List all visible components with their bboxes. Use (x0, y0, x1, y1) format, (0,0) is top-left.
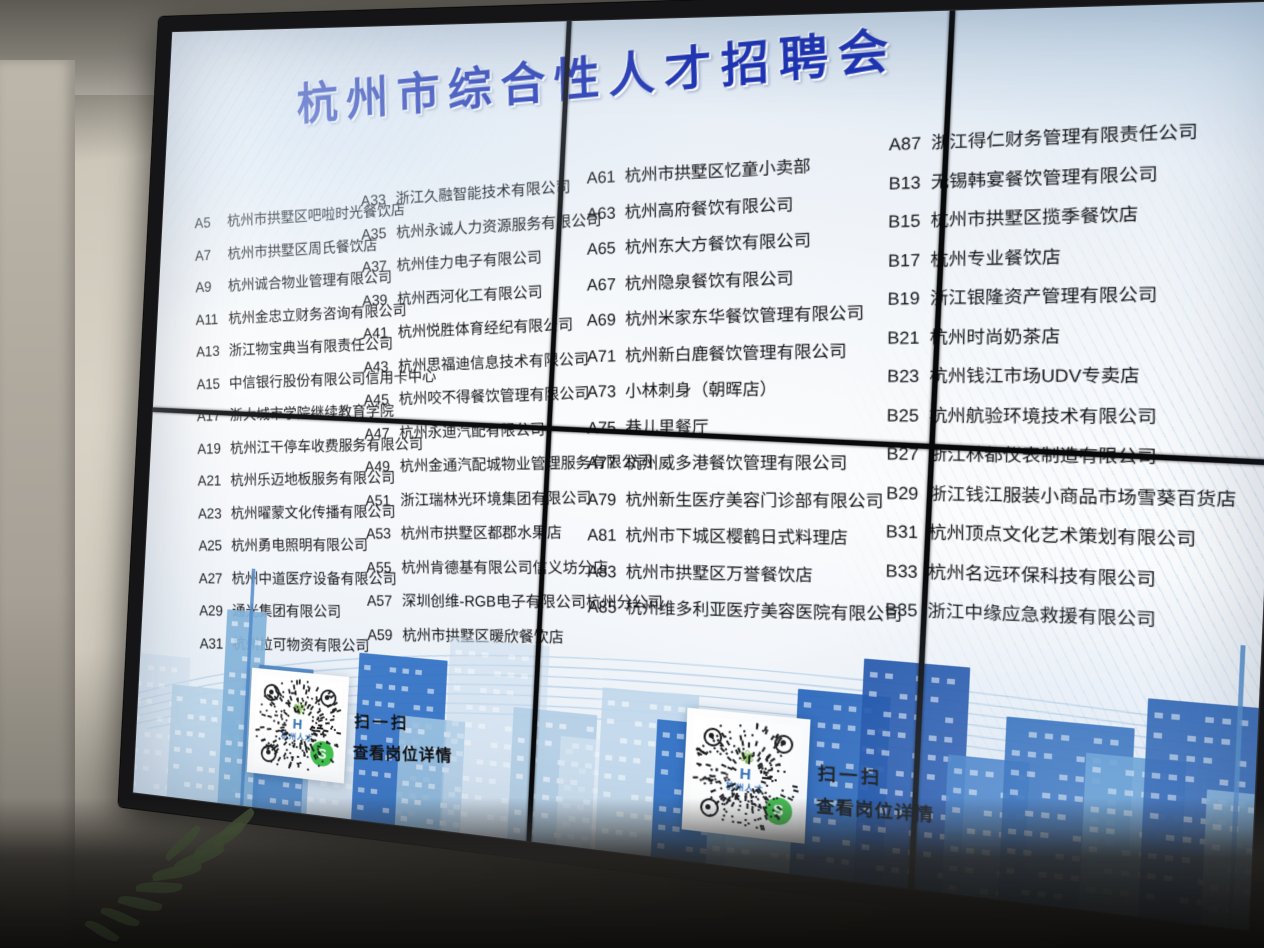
building-window (1187, 736, 1196, 742)
qr-module (732, 767, 737, 772)
exhibitor-name: 杭州佳力电子有限公司 (393, 249, 542, 274)
building-window (153, 784, 159, 789)
building-window (156, 733, 162, 738)
qr-module (285, 748, 288, 751)
building-window (476, 759, 483, 765)
building-window (295, 784, 301, 790)
qr-module (769, 763, 772, 766)
building-window (320, 781, 326, 787)
building-window (212, 700, 218, 705)
building-window (663, 724, 670, 730)
qr-module (762, 729, 765, 732)
exhibitor-code: A53 (366, 527, 397, 542)
building-window (455, 667, 462, 673)
qr-module (781, 789, 784, 792)
exhibitor-code: A55 (366, 560, 397, 575)
building-window (522, 656, 529, 662)
building-window (1076, 756, 1084, 762)
building-window (579, 768, 586, 774)
building-window (198, 732, 204, 737)
exhibitor-code: A61 (587, 169, 620, 187)
qr-module (724, 734, 727, 737)
building-window (508, 672, 515, 678)
qr-module (766, 784, 769, 787)
exhibitor-code: A7 (195, 247, 224, 263)
qr-module (727, 778, 730, 781)
building-window (834, 705, 842, 711)
qr-module (757, 752, 761, 757)
qr-module (792, 785, 797, 789)
exhibitor-name: 杭州维多利亚医疗美容医院有限公司 (621, 599, 902, 625)
building-window (255, 640, 261, 645)
exhibitor-row: B35 浙江中缘应急救援有限公司 (885, 601, 1236, 633)
building-window (1044, 753, 1052, 759)
building-window (469, 651, 476, 657)
qr-module (726, 741, 731, 746)
qr-module (710, 768, 713, 771)
building-window (1027, 771, 1035, 777)
qr-module (301, 705, 303, 708)
building-window (1094, 738, 1102, 744)
building-window (209, 768, 215, 773)
building-window (429, 766, 436, 772)
building-window (911, 772, 919, 778)
building-window (676, 744, 683, 750)
building-window (226, 740, 232, 745)
qr-module (260, 726, 264, 728)
qr-module (756, 723, 759, 726)
qr-module (311, 697, 314, 700)
building-window (1205, 717, 1214, 723)
qr-finder-dot (266, 750, 271, 755)
building-window (833, 724, 841, 730)
building-window (646, 778, 653, 784)
qr-module (722, 764, 727, 768)
qr-module (299, 680, 301, 684)
building-window (228, 689, 234, 694)
qr-module (739, 736, 742, 741)
qr-module (716, 780, 721, 783)
exhibitor-row: B25 杭州航验环境技术有限公司 (887, 407, 1237, 427)
exhibitor-code: A63 (587, 204, 620, 222)
exhibitor-row: B31 杭州顶点文化艺术策划有限公司 (886, 523, 1237, 550)
building-window (869, 691, 877, 697)
building-window (146, 699, 152, 704)
building-window (715, 789, 722, 795)
qr-module (733, 758, 738, 763)
qr-module (308, 703, 311, 706)
qr-module (748, 759, 751, 764)
building-window (718, 775, 725, 781)
building-window (543, 777, 550, 783)
building-window (1061, 735, 1069, 741)
qr-module (715, 734, 718, 737)
building-window (881, 750, 889, 756)
building-window (333, 782, 340, 788)
qr-module (743, 757, 746, 760)
building-window (468, 669, 475, 675)
exhibitor-code: A13 (196, 344, 225, 360)
building-window (578, 787, 585, 793)
qr-module (719, 786, 722, 789)
qr-module (728, 766, 733, 770)
building-window (848, 725, 856, 731)
building-window (816, 760, 824, 766)
qr-module (733, 744, 736, 747)
building-window (174, 747, 180, 752)
exhibitor-name: 杭州航验环境技术有限公司 (924, 406, 1157, 427)
qr-module (303, 685, 306, 690)
exhibitor-code: B23 (887, 368, 924, 386)
building-window (944, 737, 952, 743)
exhibitor-code: A77 (587, 455, 621, 472)
qr-module (757, 788, 762, 793)
qr-module (698, 764, 701, 767)
exhibitor-name: 杭州市拱墅区都郡水果店 (397, 525, 562, 543)
qr-module (754, 790, 757, 793)
building-window (620, 738, 627, 744)
building-window (1238, 761, 1247, 768)
building-window (899, 713, 907, 719)
exhibitor-name: 杭州新生医疗美容门诊部有限公司 (621, 491, 884, 511)
building-window (507, 690, 514, 696)
decor-hairlines-right (804, 46, 1264, 866)
building-window (790, 760, 798, 766)
exhibitor-code: A49 (365, 460, 396, 476)
building-window (159, 683, 165, 688)
building-window (418, 729, 425, 735)
building-window (1109, 759, 1118, 765)
building-window (389, 685, 396, 691)
building-window (503, 762, 510, 768)
qr-module (781, 742, 786, 747)
building-window (986, 771, 994, 777)
building-window (676, 752, 683, 758)
qr-module (702, 744, 705, 747)
qr-module (766, 777, 771, 780)
qr-letter: H (715, 763, 776, 785)
building-window (910, 792, 918, 798)
qr-module (325, 722, 329, 725)
qr-module (694, 775, 699, 777)
building-window (866, 748, 874, 754)
qr-finder-dot (709, 733, 714, 739)
building-window (1185, 776, 1194, 782)
building-window (619, 756, 626, 762)
building-window (227, 706, 233, 711)
building-window (454, 685, 461, 691)
qr-module (710, 734, 715, 739)
building-window (877, 747, 885, 753)
qr-module (763, 771, 768, 774)
building-window (480, 688, 487, 694)
exhibitor-code: A45 (364, 393, 395, 409)
qr-module (760, 770, 763, 773)
qr-code-left[interactable]: ✾ H 杭州人才 S (247, 668, 349, 784)
screen-surface[interactable]: 杭州市综合性人才招聘会 A5 杭州市拱墅区吧啦时光餐饮店A7 杭州市拱墅区周氏餐… (133, 1, 1264, 930)
exhibitor-name: 杭州悦胜体育经纪有限公司 (394, 317, 574, 342)
qr-module (743, 730, 746, 733)
exhibitor-code: A9 (195, 280, 224, 296)
building-window (1186, 756, 1195, 762)
building-window (490, 761, 497, 767)
exhibitor-row: B19 浙江银隆资产管理有限公司 (888, 285, 1238, 308)
exhibitor-name: 杭州市拱墅区周氏餐饮店 (224, 237, 378, 262)
qr-module (697, 747, 700, 750)
qr-module (701, 750, 706, 754)
building-window (661, 769, 668, 775)
building-window (802, 740, 810, 746)
building-window (861, 765, 869, 771)
exhibitor-code: A41 (363, 326, 394, 342)
qr-module (756, 725, 759, 728)
building-window (1221, 739, 1230, 745)
qr-module (761, 776, 766, 779)
building-window (1204, 737, 1213, 743)
qr-module (318, 725, 322, 727)
building-window (232, 621, 238, 626)
building-window (157, 717, 163, 722)
exhibitor-code: A43 (363, 359, 394, 375)
qr-finder-dot (780, 740, 786, 746)
building-window (607, 718, 614, 724)
qr-module (766, 774, 769, 777)
qr-module (719, 724, 722, 727)
qr-module (728, 730, 731, 733)
building-window (587, 726, 594, 732)
qr-module (282, 690, 285, 693)
tree-icon: ✾ (716, 745, 778, 769)
qr-module (281, 682, 284, 685)
qr-module (714, 778, 717, 781)
building-window (465, 722, 472, 728)
exhibitor-code: A5 (195, 215, 224, 231)
qr-module (763, 770, 766, 773)
qr-module (760, 770, 763, 773)
building-window (817, 741, 825, 747)
building-window (359, 770, 366, 776)
qr-module (735, 749, 739, 754)
qr-module (775, 763, 780, 767)
building-window (1237, 781, 1246, 788)
building-window (928, 755, 936, 761)
exhibitor-name: 杭州高府餐饮有限公司 (620, 195, 793, 221)
qr-module (777, 769, 780, 772)
building-window (704, 755, 711, 761)
building-window (1010, 789, 1018, 795)
qr-module (256, 728, 260, 731)
building-window (953, 788, 961, 794)
qr-module (783, 771, 786, 774)
building-window (171, 667, 177, 672)
exhibitor-row: B33 杭州名远环保科技有限公司 (885, 562, 1236, 591)
exhibitor-code: A69 (587, 312, 621, 330)
qr-module (712, 738, 715, 742)
building-window (745, 774, 753, 780)
exhibitor-row: B23 杭州钱江市场UDV专卖店 (887, 367, 1237, 386)
building-window (664, 705, 671, 711)
exhibitor-row: A73 小林刺身（朝晖店） (587, 379, 901, 400)
qr-module (760, 780, 765, 784)
qr-logo-halo (720, 743, 772, 798)
building-window (184, 782, 190, 787)
building-window (634, 739, 641, 745)
qr-module (767, 777, 770, 780)
building-window (916, 676, 924, 682)
scan-hint-line1-left: 扫一扫 (354, 708, 409, 734)
building-window (229, 672, 235, 677)
building-window (144, 749, 150, 754)
building-window (885, 673, 893, 679)
exhibitor-row: B21 杭州时尚奶茶店 (887, 326, 1237, 347)
building-window (160, 666, 166, 671)
building-window (1203, 757, 1212, 763)
building-window (898, 732, 906, 738)
building-window (482, 652, 489, 658)
building-window (1168, 774, 1177, 780)
qr-module (729, 737, 732, 740)
building-window (225, 757, 231, 762)
panel-seam-vertical-2 (908, 11, 955, 890)
qr-module (702, 778, 705, 781)
building-window (508, 654, 515, 660)
building-window (504, 744, 511, 750)
building-window (148, 665, 154, 670)
exhibitor-row: B17 杭州专业餐饮店 (888, 244, 1238, 270)
exhibitor-column-d: A87 浙江得仁财务管理有限责任公司B13 无锡韩宴餐饮管理有限公司B15 杭州… (885, 122, 1238, 656)
qr-module (293, 685, 296, 690)
building-window (845, 782, 853, 788)
qr-module (721, 733, 726, 738)
building-window (428, 783, 435, 789)
building-window (415, 782, 422, 788)
qr-module (276, 762, 279, 765)
exhibitor-name: 杭州东大方餐饮有限公司 (620, 231, 811, 257)
building-window (208, 785, 214, 790)
building-window (603, 791, 610, 797)
qr-module (764, 791, 768, 795)
building-window (415, 670, 422, 676)
exhibitor-code: B25 (887, 407, 924, 425)
qr-module (703, 777, 706, 780)
exhibitor-row: A71 杭州新白鹿餐饮管理有限公司 (587, 342, 901, 365)
qr-module (723, 777, 726, 780)
building-window (691, 735, 698, 741)
building-window (384, 773, 391, 779)
qr-module (333, 715, 336, 718)
qr-module (721, 771, 726, 774)
qr-module (761, 767, 764, 770)
exhibitor-code: A79 (587, 491, 621, 508)
qr-module (307, 756, 310, 759)
qr-module (765, 759, 769, 763)
building-window (876, 767, 884, 773)
qr-module (307, 685, 310, 688)
qr-module (725, 751, 728, 755)
building-window (775, 777, 783, 783)
exhibitor-code: B17 (888, 251, 925, 269)
building-window (413, 705, 420, 711)
building-window (800, 778, 808, 784)
qr-module (726, 773, 729, 776)
exhibitor-name: 杭州咬不得餐饮管理有限公司 (395, 385, 590, 408)
building-window (133, 764, 137, 769)
qr-module (708, 750, 711, 753)
building-window (622, 701, 629, 707)
exhibitor-name: 杭州专业餐饮店 (925, 247, 1061, 269)
qr-module (757, 763, 762, 768)
building-window (187, 714, 193, 719)
building-window (476, 777, 483, 783)
qr-module (296, 680, 298, 684)
building-window (732, 754, 740, 760)
building-window (200, 699, 206, 704)
building-window (882, 731, 890, 737)
qr-module (706, 777, 711, 780)
qr-module (288, 689, 291, 694)
building-window (931, 677, 939, 683)
qr-module (779, 764, 782, 767)
exhibitor-code: A67 (587, 276, 621, 294)
qr-module (710, 779, 713, 782)
building-window (133, 781, 136, 786)
building-window (492, 707, 499, 713)
building-window (175, 730, 181, 735)
building-window (371, 789, 378, 795)
qr-module (709, 778, 714, 781)
qr-module (793, 789, 798, 793)
qr-module (307, 681, 310, 684)
qr-module (771, 779, 774, 782)
exhibitor-code: B29 (886, 485, 923, 503)
qr-module (307, 748, 310, 751)
qr-module (765, 756, 770, 761)
qr-module (761, 792, 765, 796)
building-window (358, 787, 365, 793)
building-window (211, 717, 217, 722)
qr-brand-label: 杭州人才 (714, 778, 775, 796)
building-window (930, 697, 938, 703)
exhibitor-column-c: A61 杭州市拱墅区忆童小卖部A63 杭州高府餐饮有限公司A65 杭州东大方餐饮… (587, 154, 903, 645)
building-window (867, 729, 875, 735)
qr-module (744, 792, 747, 797)
floor-shadow (0, 828, 1264, 948)
building-window (716, 771, 723, 777)
building-window (479, 706, 486, 712)
qr-module (755, 724, 758, 729)
exhibitor-code: B21 (887, 329, 924, 347)
qr-module (755, 741, 759, 746)
qr-module (295, 691, 298, 695)
building-window (663, 732, 670, 738)
qr-logo-right: ✾ H 杭州人才 (714, 745, 777, 796)
exhibitor-code: A21 (198, 474, 227, 489)
building-window (1028, 751, 1036, 757)
scan-hint-line1-right: 扫一扫 (818, 758, 883, 789)
exhibitor-name: 浙江林都仪表制造有限公司 (924, 445, 1157, 467)
qr-module (697, 763, 702, 767)
qr-module (713, 746, 716, 750)
qr-module (261, 702, 264, 705)
qr-module (715, 768, 718, 771)
qr-module (296, 756, 298, 758)
building-window (969, 789, 977, 795)
exhibitor-code: A11 (196, 312, 225, 328)
exhibitor-code: B19 (888, 290, 925, 308)
qr-module (337, 732, 341, 735)
qr-module (305, 690, 308, 695)
exhibitor-name: 浙江中缘应急救援有限公司 (923, 601, 1156, 630)
